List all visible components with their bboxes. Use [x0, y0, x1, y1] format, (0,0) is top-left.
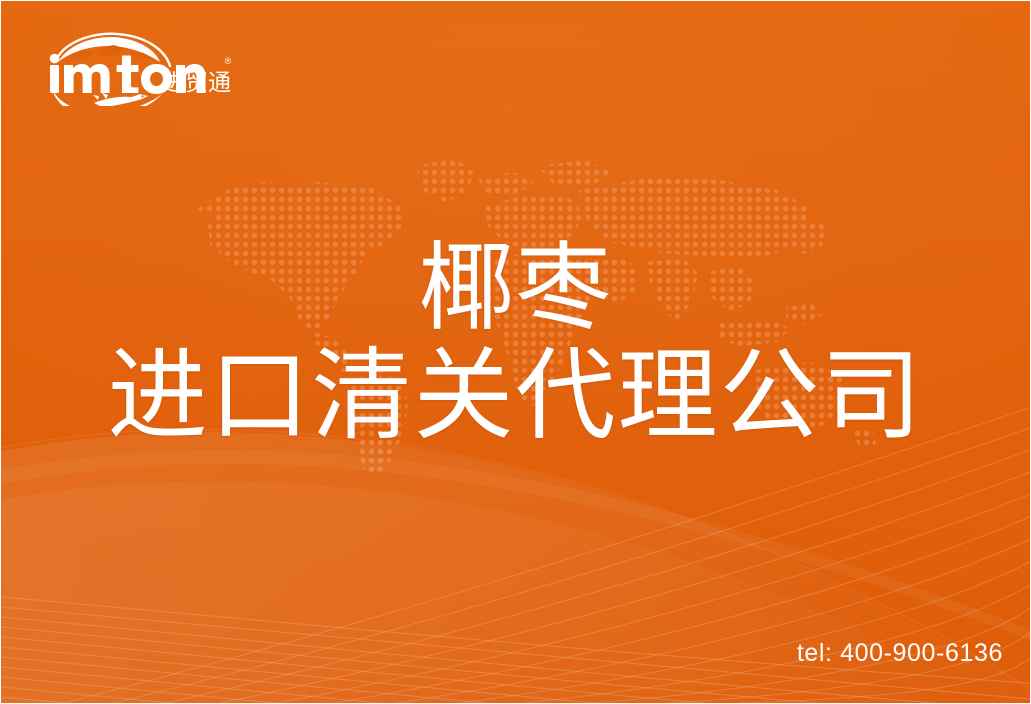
contact-telephone: tel: 400-900-6136 — [797, 638, 1003, 668]
globe-arc-icon — [56, 34, 170, 66]
registered-trademark-icon: ® — [225, 56, 232, 66]
headline-line-1: 椰枣 — [0, 236, 1031, 340]
headline-block: 椰枣 进口清关代理公司 — [0, 236, 1031, 452]
promo-banner: 进贸通 ® 椰枣 进口清关代理公司 tel: 400-900-6136 — [0, 0, 1031, 704]
headline-line-2: 进口清关代理公司 — [0, 340, 1031, 452]
world-map-dot-pattern — [178, 132, 878, 477]
imton-logo[interactable]: 进贸通 ® — [36, 32, 236, 106]
logo-chinese-name: 进贸通 — [162, 70, 231, 96]
